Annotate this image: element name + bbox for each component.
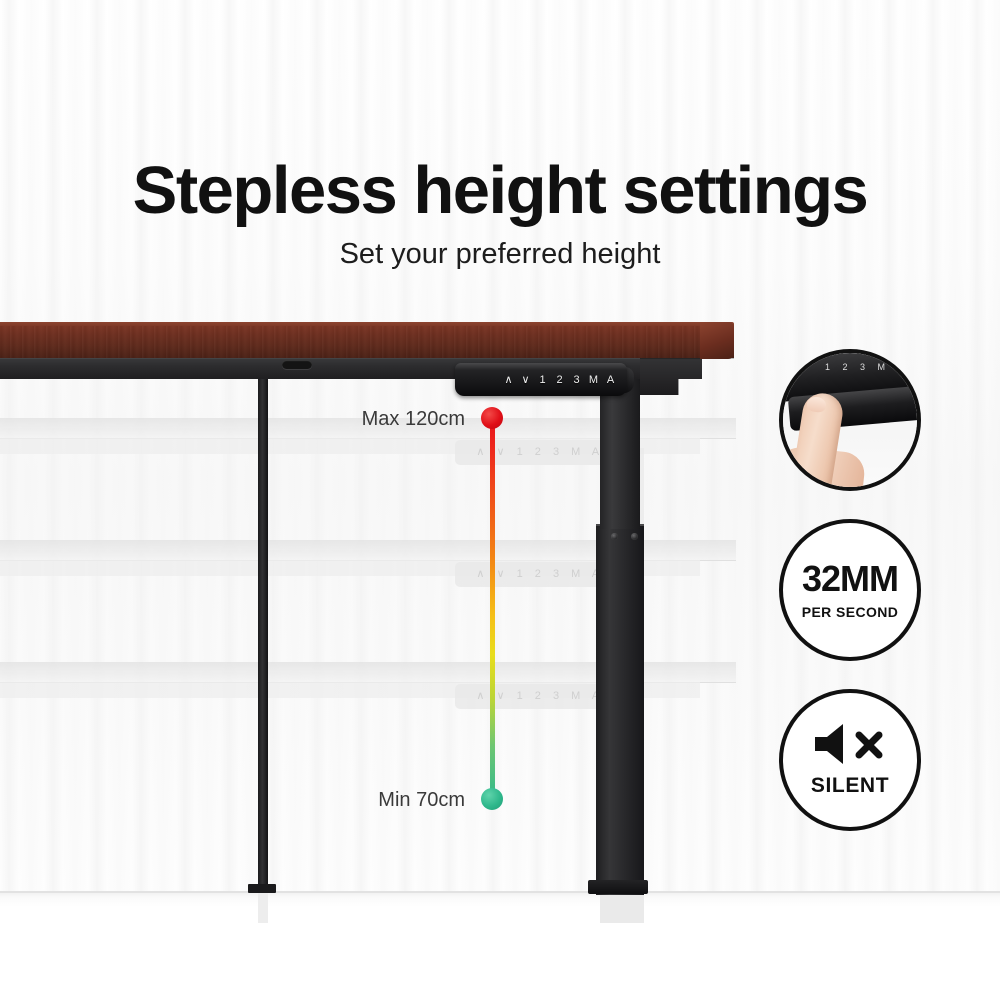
height-range-gradient-bar xyxy=(490,418,495,800)
keypad-memory-button[interactable]: M xyxy=(585,374,602,386)
desk-leg-right-lower xyxy=(596,525,644,895)
desk-tabletop xyxy=(0,326,734,358)
min-height-label: Min 70cm xyxy=(245,789,465,812)
floor xyxy=(0,893,1000,1000)
keypad-down-button[interactable]: ∨ xyxy=(517,373,534,386)
finger-press-photo: 1 2 3 M A xyxy=(783,353,917,487)
desk-foot-right xyxy=(588,880,648,894)
desk-tabletop-corner xyxy=(700,322,734,359)
keypad-preset-3-button[interactable]: 3 xyxy=(568,374,585,386)
desk-foot-left xyxy=(248,884,276,893)
keypad-preset-1-button[interactable]: 1 xyxy=(534,374,551,386)
keypad-preset-2-button[interactable]: 2 xyxy=(551,374,568,386)
speed-value: 32MM xyxy=(802,561,898,597)
page-subtitle: Set your preferred height xyxy=(0,238,1000,271)
product-feature-graphic: ∧ ∨ 1 2 3 M A ∧ ∨ 1 2 3 M A ∧ ∨ 1 2 3 M … xyxy=(0,0,1000,1000)
silent-label: SILENT xyxy=(811,774,889,798)
bolt-icon xyxy=(611,533,618,540)
badge-speed: 32MM PER SECOND xyxy=(779,519,921,661)
keypad-auto-button[interactable]: A xyxy=(602,374,619,386)
speed-unit: PER SECOND xyxy=(802,604,899,620)
bolt-icon xyxy=(631,533,638,540)
badge-finger-press: 1 2 3 M A xyxy=(779,349,921,491)
max-height-marker xyxy=(481,407,503,429)
desk-leg-left xyxy=(258,379,268,893)
height-control-keypad[interactable]: ∧ ∨ 1 2 3 M A xyxy=(455,363,627,396)
curtain-background xyxy=(0,0,1000,1000)
badge-silent: SILENT xyxy=(779,689,921,831)
page-title: Stepless height settings xyxy=(0,152,1000,229)
photo-keypad-keys: 1 2 3 M A xyxy=(825,362,908,372)
keypad-up-button[interactable]: ∧ xyxy=(500,373,517,386)
max-height-label: Max 120cm xyxy=(245,408,465,431)
min-height-marker xyxy=(481,788,503,810)
mute-speaker-icon xyxy=(811,722,889,766)
desk-leg-right-upper xyxy=(600,379,640,529)
cable-port-icon xyxy=(282,360,312,369)
